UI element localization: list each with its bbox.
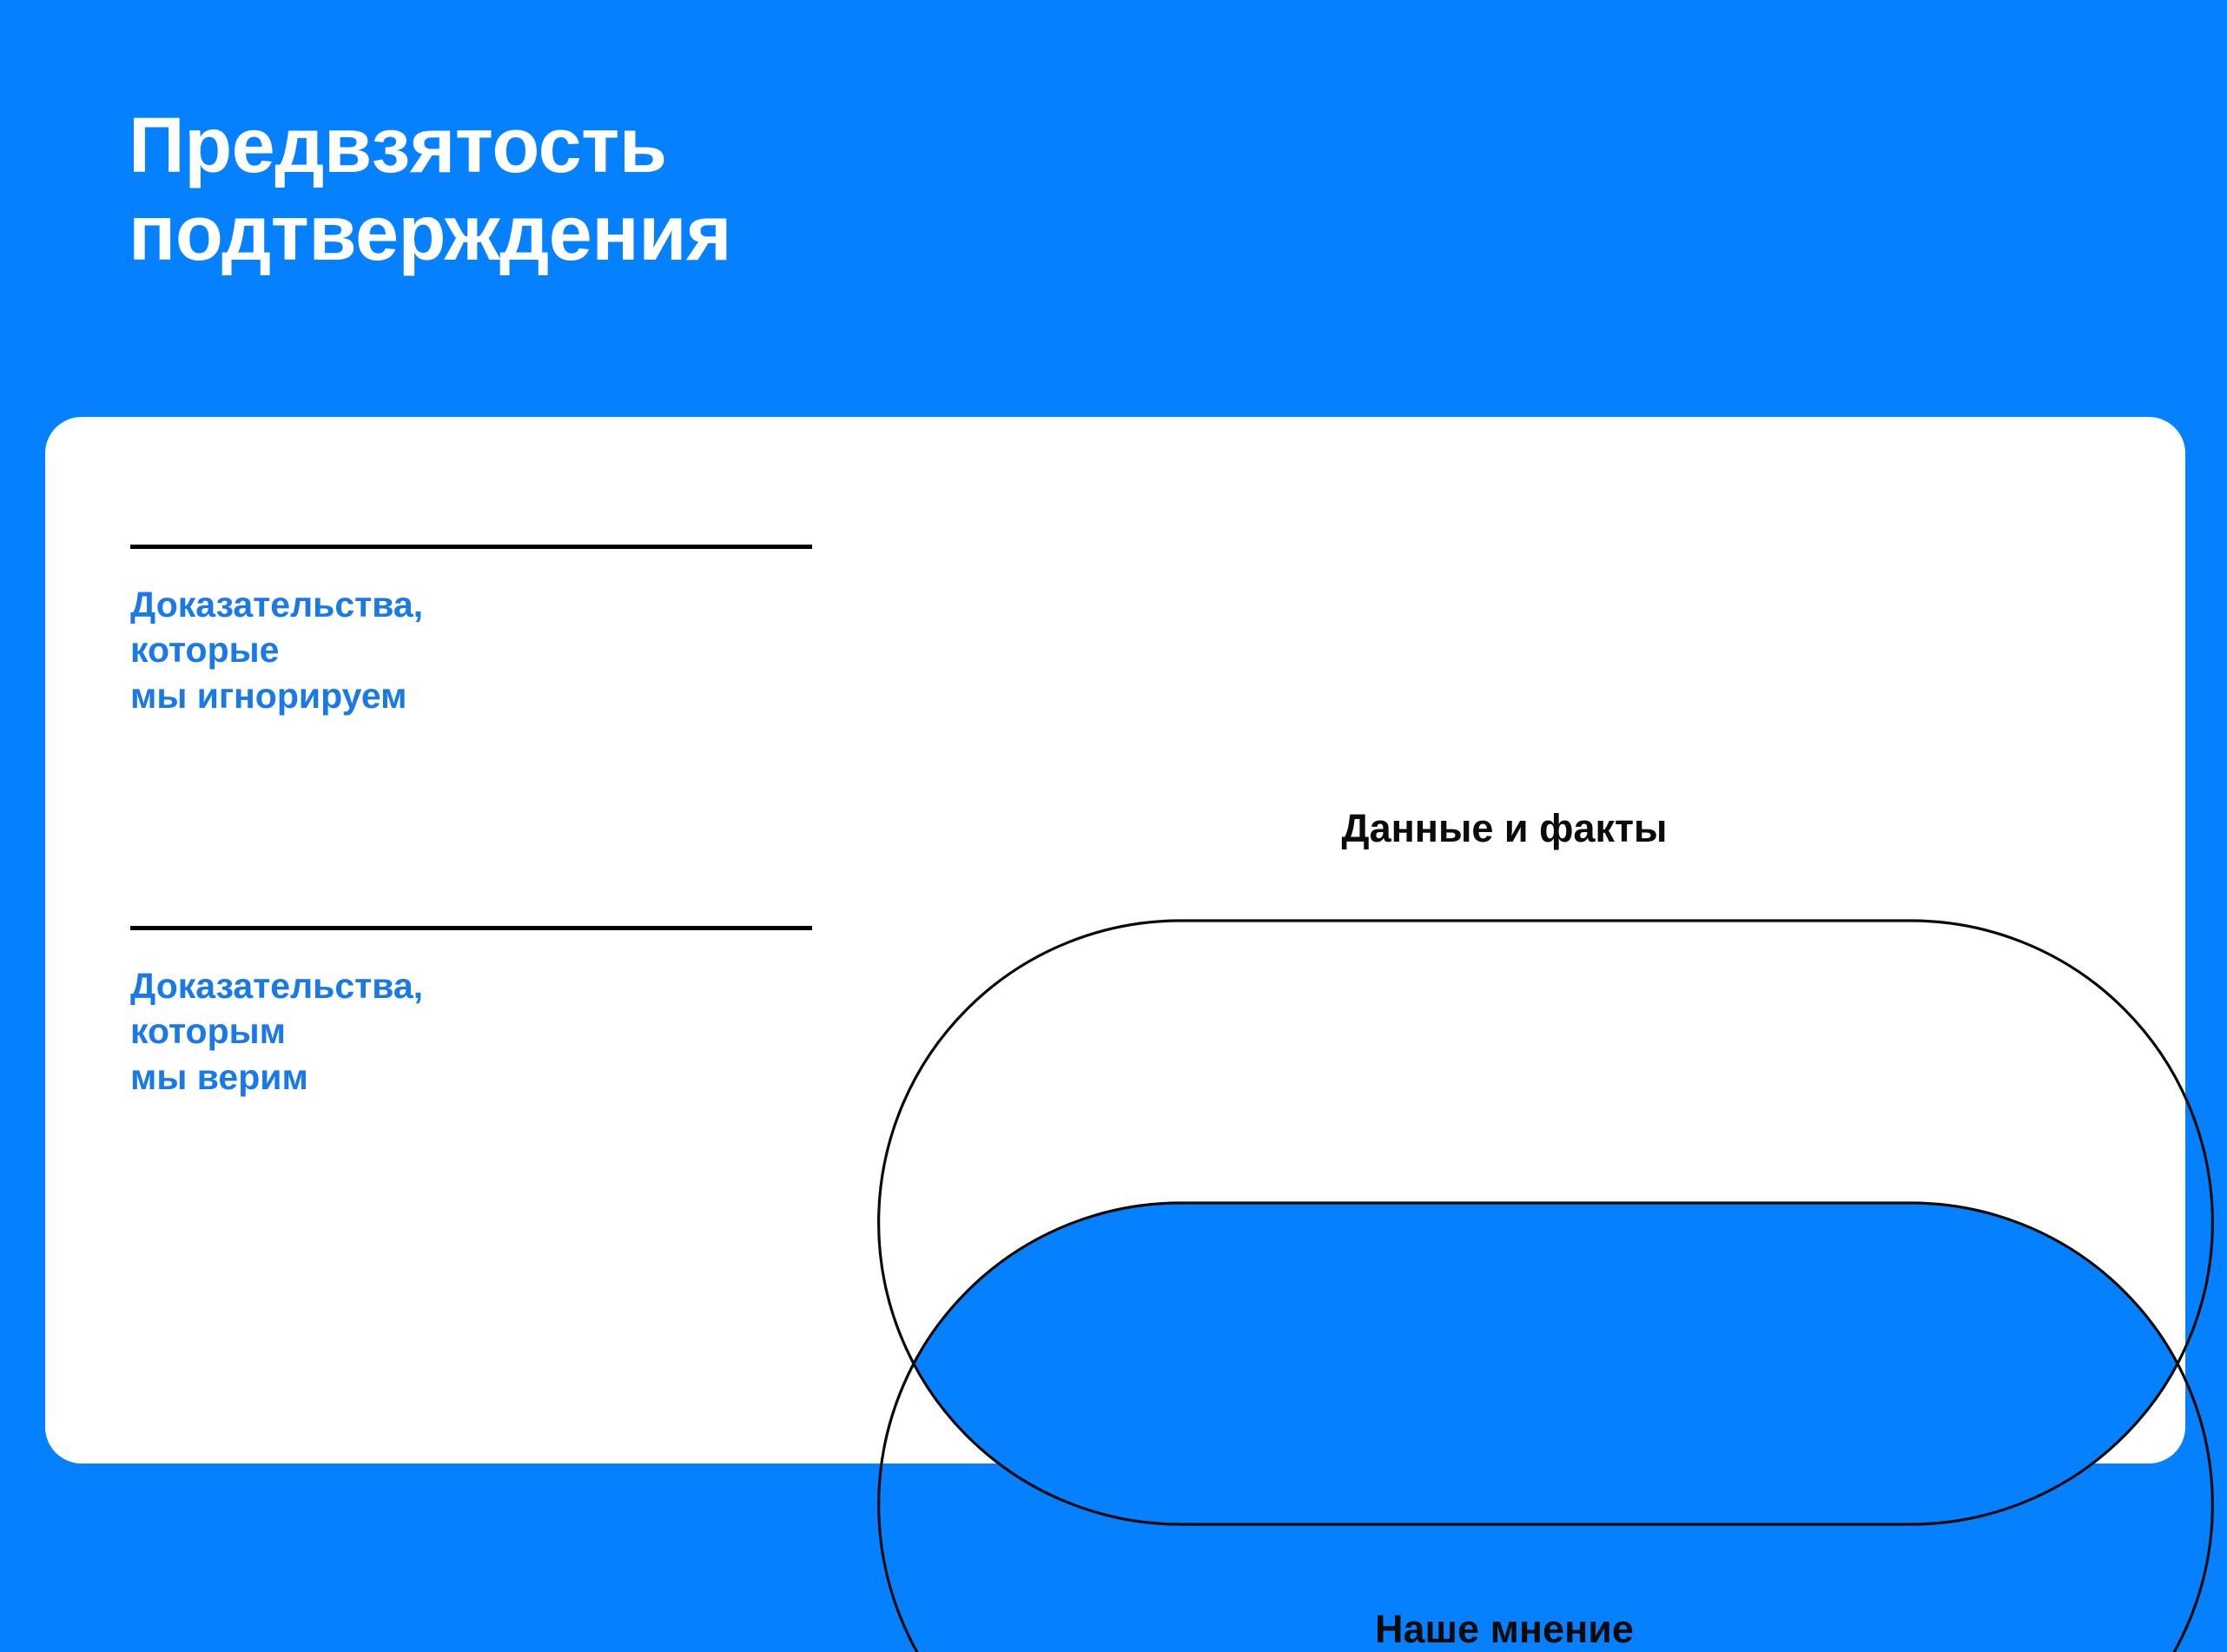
legend-divider bbox=[130, 926, 812, 930]
legend-divider bbox=[130, 545, 812, 549]
venn-diagram: Данные и факты Наше мнение bbox=[810, 469, 2199, 1416]
content-card: Доказательства, которые мы игнорируем До… bbox=[45, 417, 2185, 1464]
legend-item-label: Доказательства, которые мы игнорируем bbox=[130, 582, 816, 718]
legend-item-believed-evidence: Доказательства, которым мы верим bbox=[130, 926, 816, 1100]
page-title: Предвзятость подтверждения bbox=[129, 102, 731, 278]
legend-item-label: Доказательства, которым мы верим bbox=[130, 963, 816, 1100]
venn-label-opinion: Наше мнение bbox=[810, 1607, 2199, 1652]
venn-diagram-svg bbox=[810, 469, 2199, 1416]
legend-item-ignored-evidence: Доказательства, которые мы игнорируем bbox=[130, 545, 816, 718]
venn-intersection-region bbox=[879, 1203, 2213, 1652]
venn-label-facts: Данные и факты bbox=[810, 806, 2199, 851]
